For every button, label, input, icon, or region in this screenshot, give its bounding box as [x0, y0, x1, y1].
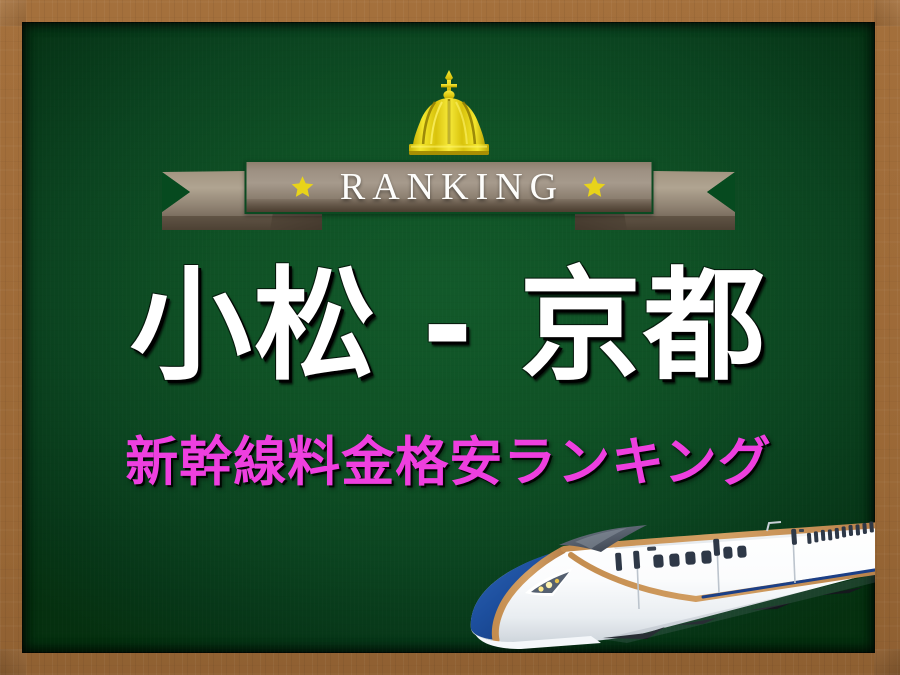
chalkboard-panel: RANKING 小松 - 京都 新幹線料金格安ランキング	[22, 22, 875, 653]
thumbnail-canvas: RANKING 小松 - 京都 新幹線料金格安ランキング	[0, 0, 900, 675]
ribbon-label: RANKING	[333, 168, 564, 206]
ribbon-band: RANKING	[244, 160, 653, 214]
frame-corner-bottom-right	[874, 649, 900, 675]
page-subtitle: 新幹線料金格安ランキング	[22, 436, 875, 489]
shinkansen-e7-train	[451, 497, 875, 653]
star-icon	[291, 175, 315, 199]
ranking-ribbon: RANKING	[22, 152, 875, 238]
star-icon	[582, 175, 606, 199]
frame-corner-top-right	[874, 0, 900, 26]
crown-icon	[395, 68, 503, 160]
page-title: 小松 - 京都	[22, 264, 875, 388]
